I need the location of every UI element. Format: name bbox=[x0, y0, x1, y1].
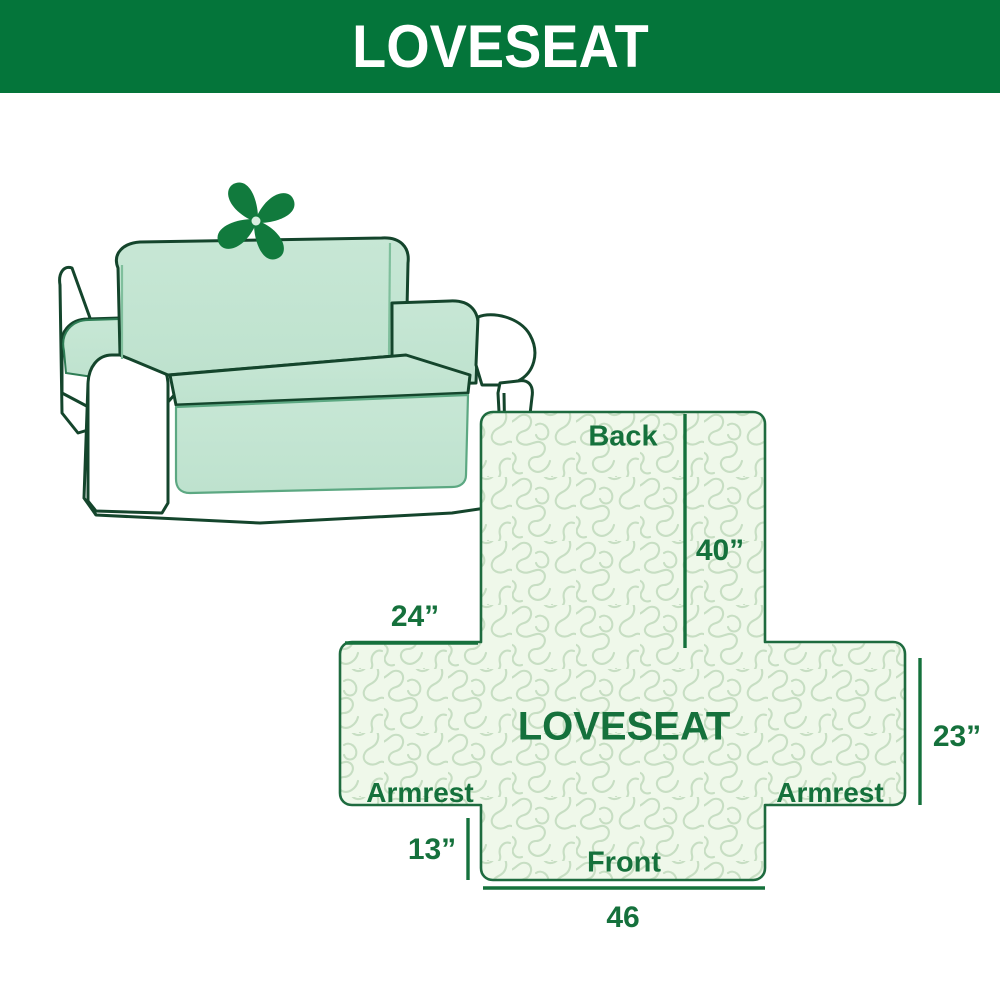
pattern-label-center: LOVESEAT bbox=[518, 705, 731, 750]
sofa-backrest-right-seam bbox=[389, 243, 390, 355]
sofa-right-arm-roll bbox=[476, 315, 535, 385]
dimension-label-back-height: 40” bbox=[696, 534, 744, 568]
pattern-label-front: Front bbox=[587, 847, 661, 880]
pattern-label-back: Back bbox=[588, 421, 657, 454]
dimension-label-armrest-depth: 23” bbox=[933, 720, 981, 754]
dimension-label-back-width-offset: 24” bbox=[391, 600, 439, 634]
sofa-backrest-cover bbox=[116, 238, 408, 375]
page-title: LOVESEAT bbox=[352, 17, 649, 77]
dimension-label-overall-width: 46 bbox=[606, 901, 639, 935]
dimension-label-front-drop: 13” bbox=[408, 833, 456, 867]
sofa-left-arm-roll bbox=[88, 355, 168, 513]
diagram-canvas: Back LOVESEAT Armrest Armrest Front 40” … bbox=[0, 93, 1000, 1000]
header-banner: LOVESEAT bbox=[0, 0, 1000, 93]
pattern-label-armrest-right: Armrest bbox=[776, 777, 883, 809]
diagram-svg bbox=[0, 93, 1000, 1000]
pattern-label-armrest-left: Armrest bbox=[366, 777, 473, 809]
sofa-front-cover-panel bbox=[176, 395, 468, 493]
sofa-illustration bbox=[60, 183, 535, 523]
